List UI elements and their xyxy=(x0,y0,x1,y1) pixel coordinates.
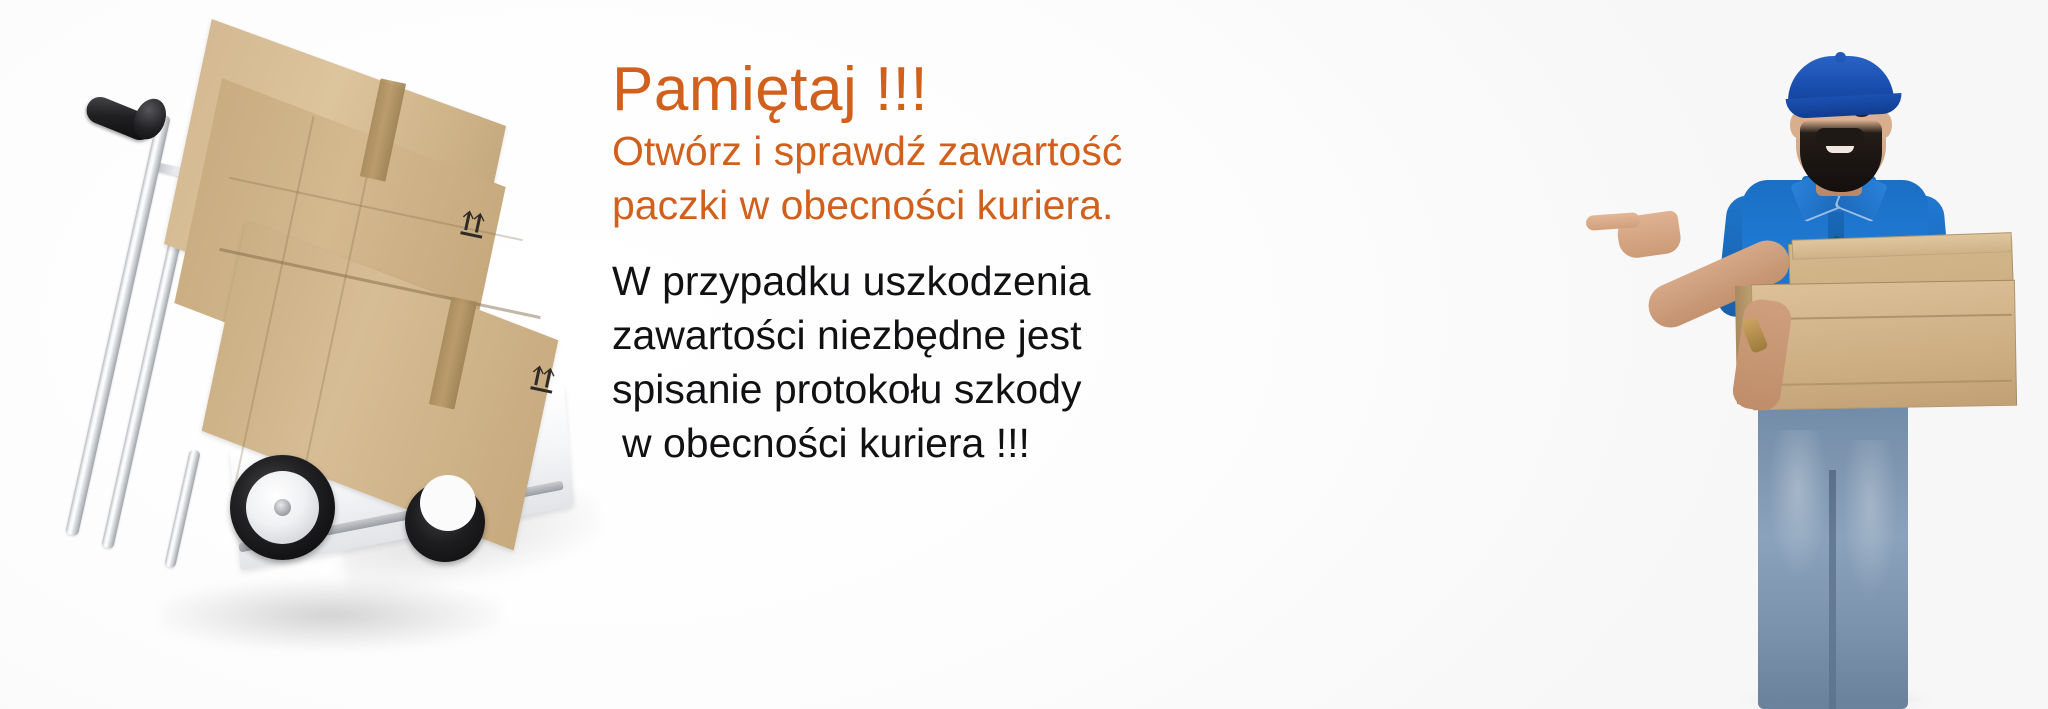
this-way-up-arrow-icon xyxy=(455,207,495,247)
courier-illustration xyxy=(1490,0,2048,709)
hand-truck-floor-shadow xyxy=(160,580,500,650)
hand-truck-rail-lower xyxy=(164,449,201,569)
body-line-3: spisanie protokołu szkody xyxy=(612,362,1152,416)
headline: Pamiętaj !!! xyxy=(612,58,1152,121)
body-line-2: zawartości niezbędne jest xyxy=(612,308,1152,362)
courier-jeans-highlight-left xyxy=(1768,430,1828,580)
hand-truck-wheel-axle xyxy=(274,499,291,516)
subhead-line-1: Otwórz i sprawdź zawartość xyxy=(612,125,1152,178)
this-way-up-arrow-icon xyxy=(525,362,565,402)
hand-truck-illustration xyxy=(40,20,600,709)
courier-mouth xyxy=(1826,146,1854,153)
courier-jeans-seam xyxy=(1829,470,1836,709)
body-line-4: w obecności kuriera !!! xyxy=(612,416,1152,470)
hand-truck-wheel-rear-cutout xyxy=(420,475,476,531)
courier-jeans-highlight-right xyxy=(1842,440,1898,600)
notice-copy-block: Pamiętaj !!! Otwórz i sprawdź zawartość … xyxy=(612,58,1152,470)
body-text-block: W przypadku uszkodzenia zawartości niezb… xyxy=(612,254,1152,470)
body-line-1: W przypadku uszkodzenia xyxy=(612,254,1152,308)
courier-cap-button xyxy=(1835,52,1846,63)
delivery-notice-banner: Pamiętaj !!! Otwórz i sprawdź zawartość … xyxy=(0,0,2048,709)
subhead-line-2: paczki w obecności kuriera. xyxy=(612,179,1152,232)
courier-moustache xyxy=(1816,128,1864,143)
held-box-front xyxy=(1751,280,2017,411)
